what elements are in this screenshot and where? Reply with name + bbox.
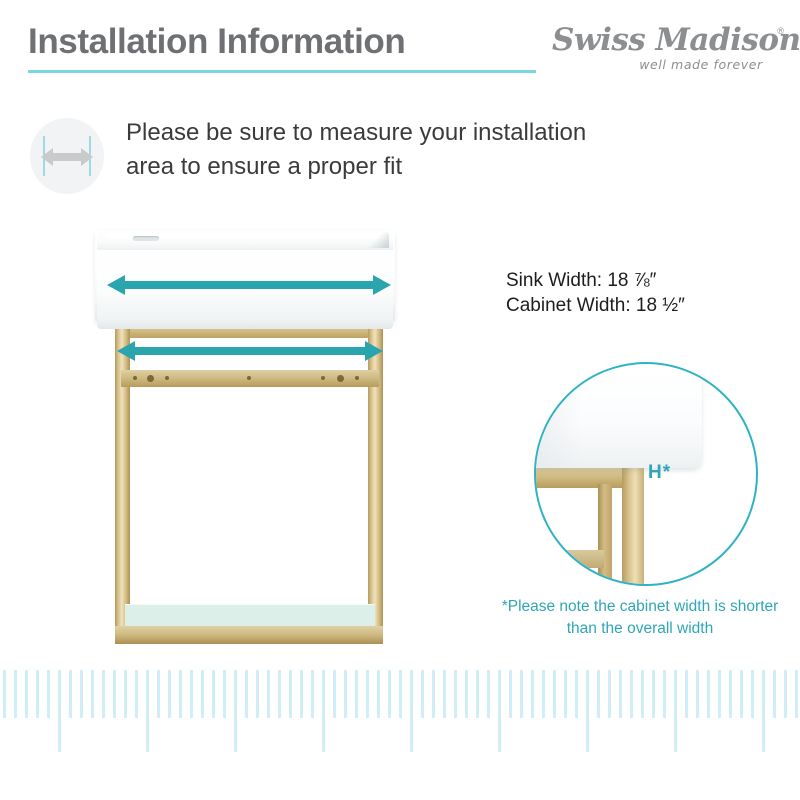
ruler-tick [498, 670, 501, 752]
double-arrow-icon [41, 145, 93, 169]
ruler-tick [234, 670, 237, 752]
ruler-tick [80, 670, 83, 718]
sink-corner-shade [367, 232, 389, 248]
ruler-tick [146, 670, 149, 752]
ruler-tick [619, 670, 622, 718]
title-underline [28, 70, 536, 73]
detail-sink-shading [534, 368, 582, 468]
ruler-tick [531, 670, 534, 718]
ruler-tick [245, 670, 248, 718]
measure-width-icon [30, 118, 104, 194]
ruler-tick [366, 670, 369, 718]
ruler-tick [575, 670, 578, 718]
ruler-tick [707, 670, 710, 718]
notice-text: Please be sure to measure your installat… [126, 116, 626, 184]
ruler-tick [300, 670, 303, 718]
registered-trademark-icon: ® [777, 26, 784, 36]
ruler-tick [212, 670, 215, 718]
ruler-tick [586, 670, 589, 752]
ruler-tick [685, 670, 688, 718]
ruler-tick [102, 670, 105, 718]
ruler-tick [652, 670, 655, 718]
ruler-tick [388, 670, 391, 718]
cabinet-width-label: Cabinet Width: 18 ½″ [506, 293, 796, 318]
ruler-tick [564, 670, 567, 718]
ruler-tick [278, 670, 281, 718]
ruler-tick [157, 670, 160, 718]
ruler-tick [58, 670, 61, 752]
frame-bottom-rail [115, 626, 383, 644]
ruler-tick [421, 670, 424, 718]
ruler-tick [465, 670, 468, 718]
ruler-decoration [0, 670, 800, 800]
sink-top-deck [97, 230, 393, 250]
page-header: Installation Information Swiss Madison ®… [0, 0, 800, 92]
ruler-tick [729, 670, 732, 718]
ruler-tick [14, 670, 17, 718]
brand-name: Swiss Madison [552, 22, 788, 58]
dimension-list: Sink Width: 18 ⅞″ Cabinet Width: 18 ½″ [506, 268, 796, 318]
ruler-tick [25, 670, 28, 718]
page-title: Installation Information [28, 22, 405, 62]
installation-notice: Please be sure to measure your installat… [30, 116, 630, 200]
ruler-tick [641, 670, 644, 718]
crossbar-hole [355, 376, 359, 380]
ruler-tick [476, 670, 479, 718]
product-illustration [95, 222, 415, 652]
ruler-tick [399, 670, 402, 718]
detail-dimension-marker: H* [648, 462, 671, 484]
ruler-tick [520, 670, 523, 718]
ruler-tick [377, 670, 380, 718]
ruler-tick [630, 670, 633, 718]
ruler-tick [69, 670, 72, 718]
ruler-tick [718, 670, 721, 718]
detail-frame-post-inner [598, 484, 612, 584]
ruler-tick [311, 670, 314, 718]
ruler-tick [751, 670, 754, 718]
ruler-tick [190, 670, 193, 718]
crossbar-hole [321, 376, 325, 380]
ruler-tick [289, 670, 292, 718]
ruler-tick [762, 670, 765, 752]
ruler-tick [267, 670, 270, 718]
ruler-tick [773, 670, 776, 718]
faucet-hole [133, 236, 159, 241]
footnote-text: *Please note the cabinet width is shorte… [490, 596, 790, 640]
ruler-tick [168, 670, 171, 718]
ruler-tick [795, 670, 798, 718]
ruler-tick [355, 670, 358, 718]
brand-tagline: well made forever [552, 57, 788, 72]
ruler-tick [608, 670, 611, 718]
ruler-tick [135, 670, 138, 718]
ruler-tick [487, 670, 490, 718]
glass-shelf [125, 604, 375, 627]
ruler-tick [509, 670, 512, 718]
ruler-tick [36, 670, 39, 718]
crossbar-hole [133, 376, 137, 380]
detail-frame-post-outer [622, 464, 644, 584]
frame-crossbar [121, 370, 379, 387]
crossbar-hole [165, 376, 169, 380]
ruler-tick [223, 670, 226, 718]
ruler-tick [201, 670, 204, 718]
ruler-tick [91, 670, 94, 718]
ruler-tick [410, 670, 413, 752]
sink-width-arrow [107, 274, 391, 296]
ruler-tick [663, 670, 666, 718]
ruler-tick [179, 670, 182, 718]
ruler-tick [674, 670, 677, 752]
crossbar-hole [147, 375, 154, 382]
ruler-tick [784, 670, 787, 718]
detail-callout-circle: H* [534, 362, 758, 586]
cabinet-frame [115, 322, 383, 644]
ruler-tick [443, 670, 446, 718]
ruler-tick [553, 670, 556, 718]
sink-width-label: Sink Width: 18 ⅞″ [506, 268, 796, 293]
ruler-tick [740, 670, 743, 718]
ruler-tick [344, 670, 347, 718]
ruler-tick [432, 670, 435, 718]
brand-logo: Swiss Madison ® well made forever [552, 22, 788, 76]
crossbar-hole [247, 376, 251, 380]
ruler-tick [113, 670, 116, 718]
ruler-tick [696, 670, 699, 718]
ruler-tick [124, 670, 127, 718]
ruler-tick [322, 670, 325, 752]
ruler-tick [3, 670, 6, 718]
ruler-tick [256, 670, 259, 718]
ruler-tick [454, 670, 457, 718]
detail-frame-bracket [534, 550, 604, 568]
crossbar-hole [337, 375, 344, 382]
ruler-tick [542, 670, 545, 718]
ruler-tick [47, 670, 50, 718]
cabinet-width-arrow [117, 340, 383, 362]
ruler-tick [597, 670, 600, 718]
ruler-tick [333, 670, 336, 718]
detail-bracket-hole [554, 556, 562, 564]
